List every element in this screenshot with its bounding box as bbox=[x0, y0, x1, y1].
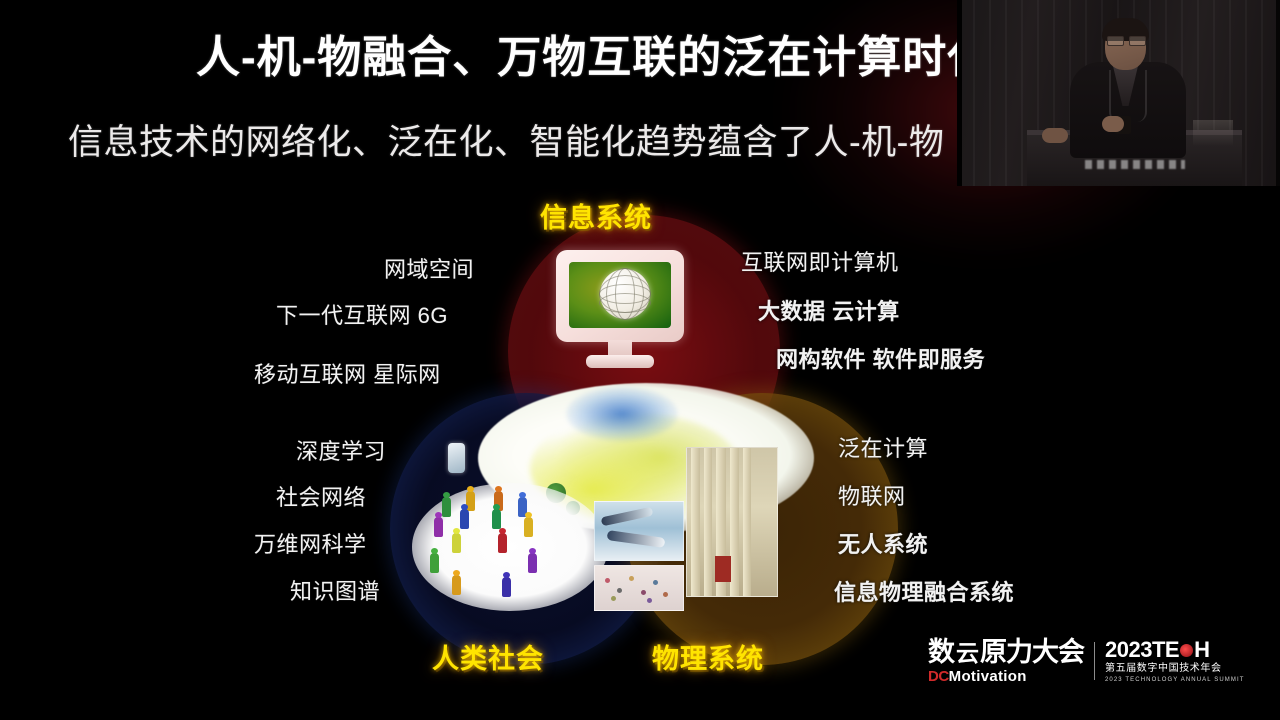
keyword-label: 社会网络 bbox=[276, 480, 366, 512]
keyword-label: 物联网 bbox=[838, 479, 906, 511]
logo-shu-text: 数 bbox=[928, 639, 954, 666]
logo-year-text: 2023 bbox=[1105, 639, 1152, 661]
page-title: 人-机-物融合、万物互联的泛在计算时代 bbox=[196, 35, 992, 81]
speaker-video-overlay[interactable] bbox=[957, 0, 1280, 186]
video-left-border bbox=[957, 0, 962, 186]
globe-icon bbox=[600, 269, 650, 319]
skyscrapers-photo bbox=[686, 447, 778, 597]
venn-label-human-society: 人类社会 bbox=[432, 637, 544, 676]
logo-event-cn-text: 第五届数字中国技术年会 bbox=[1105, 664, 1245, 674]
keyword-label: 无人系统 bbox=[838, 527, 928, 559]
conference-logo: 数 云 原力大会 DC Motivation 2023 TE H 第五届数字中国… bbox=[928, 636, 1245, 686]
keyword-label: 网构软件 软件即服务 bbox=[776, 342, 985, 374]
glasses-icon bbox=[1107, 36, 1144, 44]
logo-yuanli-text: 原力大会 bbox=[980, 639, 1084, 666]
keyword-label: 信息物理融合系统 bbox=[834, 575, 1014, 607]
logo-event: 2023 TE H 第五届数字中国技术年会 2023 TECHNOLOGY AN… bbox=[1105, 639, 1245, 683]
page-subtitle: 信息技术的网络化、泛在化、智能化趋势蕴含了人-机-物 bbox=[68, 124, 944, 163]
venn-diagram bbox=[370, 215, 910, 675]
logo-brand: 数 云 原力大会 DC Motivation bbox=[928, 639, 1084, 684]
aircraft-photo bbox=[594, 501, 684, 561]
logo-event-en-text: 2023 TECHNOLOGY ANNUAL SUMMIT bbox=[1105, 677, 1245, 683]
venn-label-information-system: 信息系统 bbox=[540, 196, 652, 235]
keyword-label: 泛在计算 bbox=[838, 431, 928, 463]
speaker-lanyard bbox=[1109, 70, 1147, 122]
podium-signage bbox=[1085, 160, 1185, 169]
computer-monitor-with-globe-icon bbox=[556, 250, 684, 374]
blue-city-swirl bbox=[566, 387, 678, 441]
keyword-label: 大数据 云计算 bbox=[758, 294, 900, 326]
keyword-label: 知识图谱 bbox=[290, 574, 380, 606]
video-right-border bbox=[1276, 0, 1280, 186]
keyword-label: 下一代互联网 6G bbox=[276, 298, 448, 330]
logo-divider bbox=[1094, 642, 1095, 680]
keyword-label: 网域空间 bbox=[384, 252, 474, 284]
logo-cloud-icon: 云 bbox=[956, 642, 978, 665]
logo-dc-text: DC bbox=[928, 669, 949, 684]
keyword-label: 互联网即计算机 bbox=[741, 245, 899, 277]
keyword-label: 万维网科学 bbox=[254, 527, 367, 559]
logo-tech-b-text: H bbox=[1194, 639, 1209, 661]
crowd-photo bbox=[594, 565, 684, 611]
keyword-label: 深度学习 bbox=[296, 434, 386, 466]
keyword-label: 移动互联网 星际网 bbox=[254, 357, 441, 389]
stage-light bbox=[1193, 120, 1233, 146]
speaker-right-hand bbox=[1102, 116, 1124, 132]
networked-people-artwork bbox=[412, 483, 608, 611]
logo-tech-a-text: TE bbox=[1152, 639, 1179, 661]
logo-red-orb-icon bbox=[1180, 644, 1193, 657]
speaker-left-hand bbox=[1042, 128, 1068, 143]
mobile-phone-artwork bbox=[448, 443, 465, 473]
venn-label-physical-system: 物理系统 bbox=[652, 637, 764, 676]
slide-stage: 人-机-物融合、万物互联的泛在计算时代 信息技术的网络化、泛在化、智能化趋势蕴含… bbox=[0, 0, 1280, 720]
logo-motivation-text: Motivation bbox=[949, 669, 1027, 684]
